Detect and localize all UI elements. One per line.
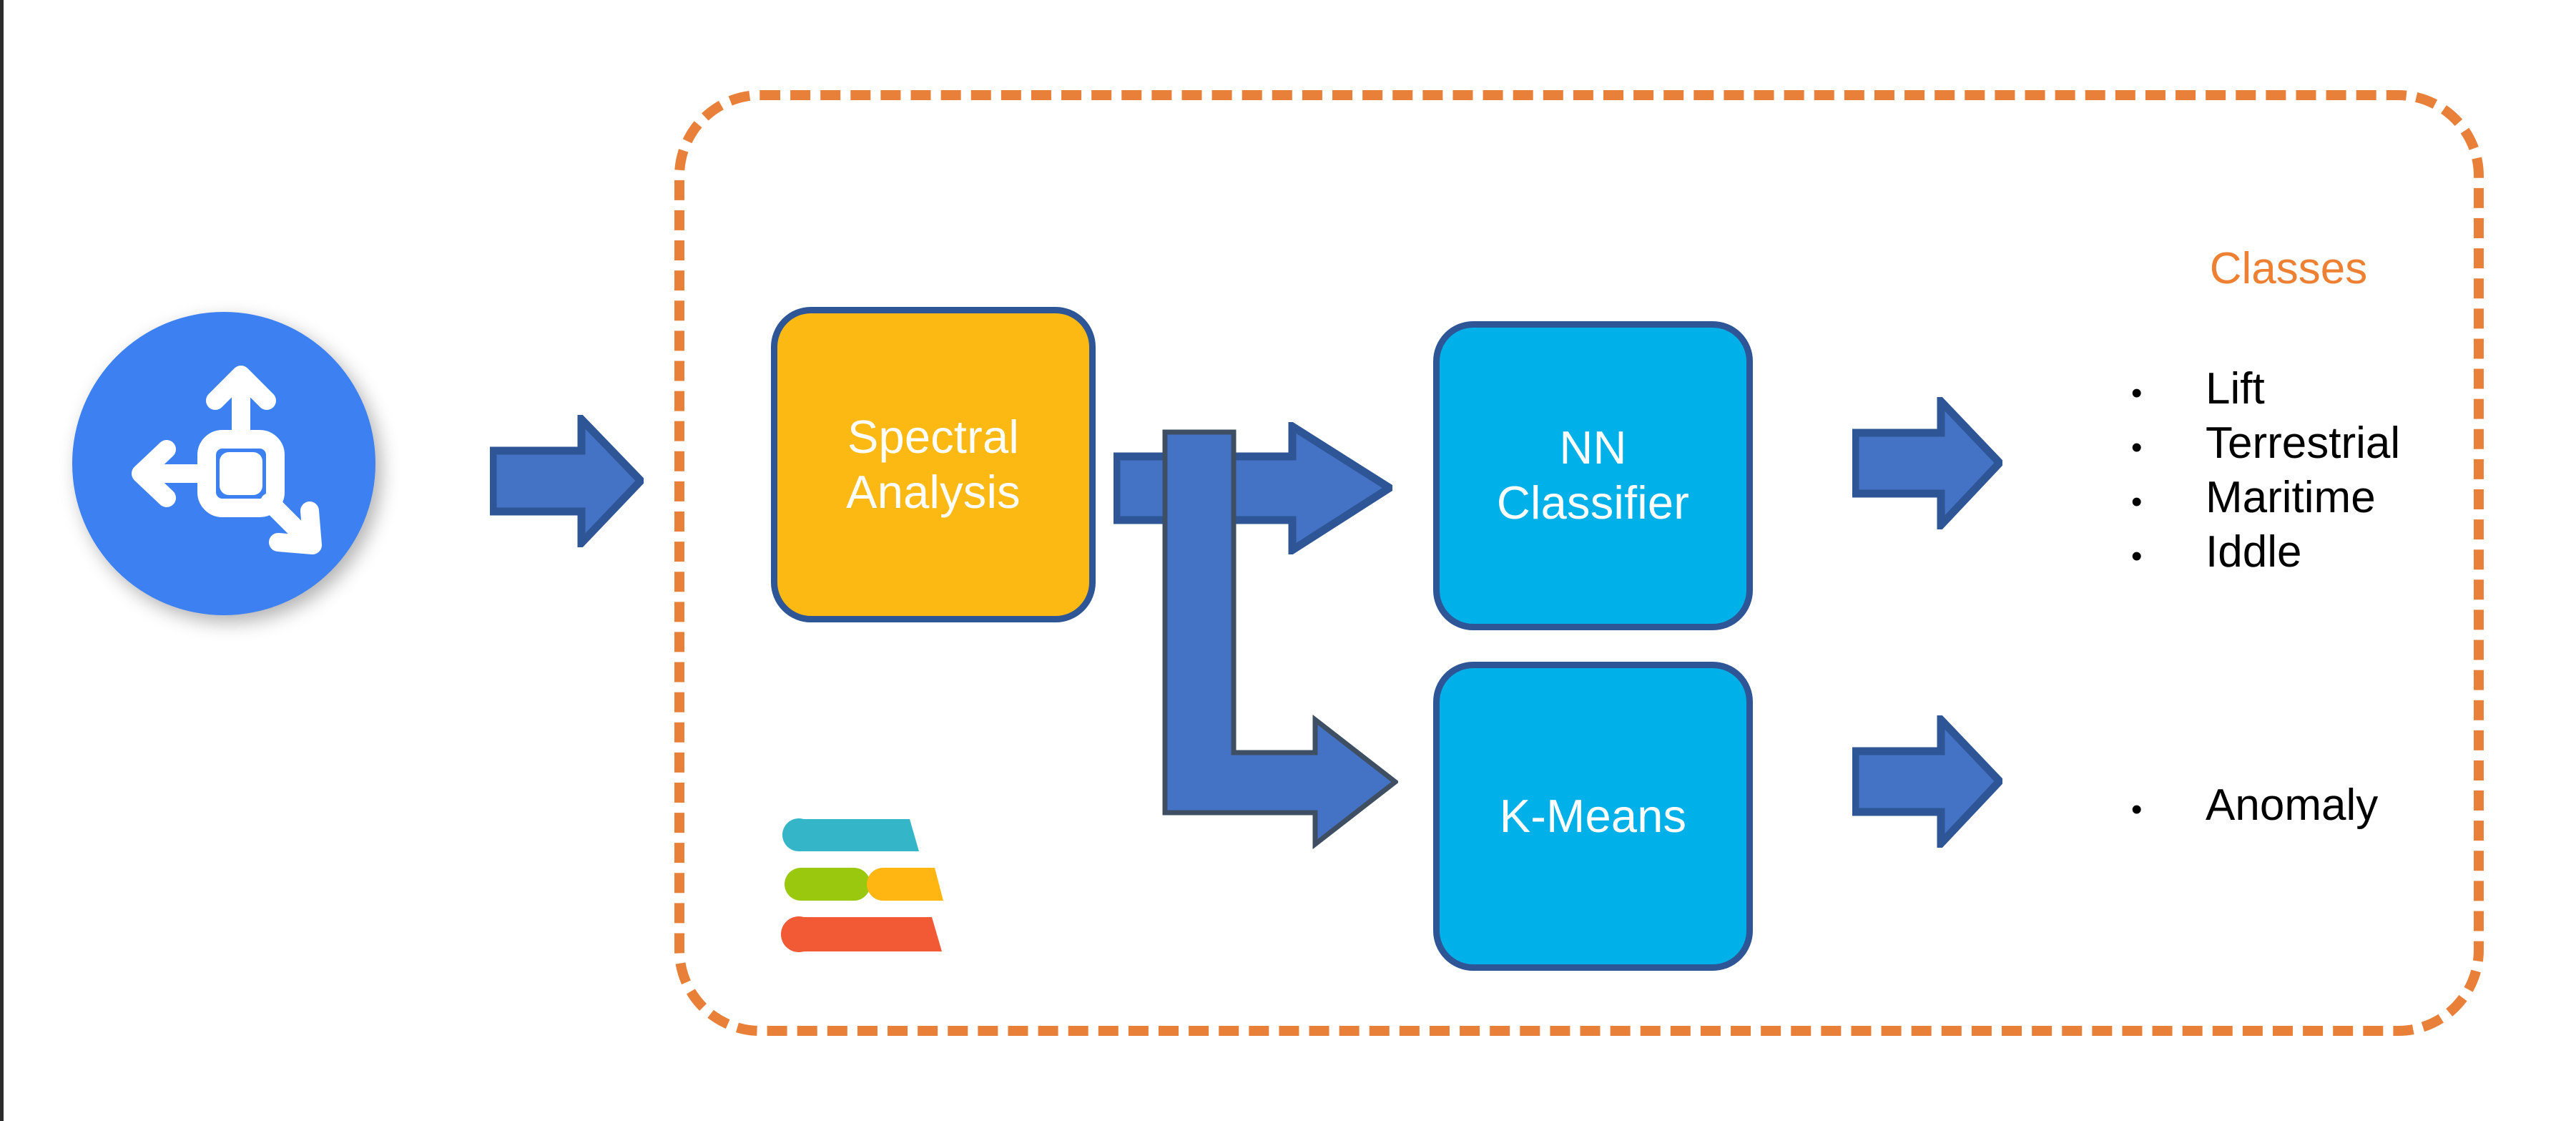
list-item: • Terrestrial [2131,418,2400,472]
bullet-icon: • [2131,486,2206,518]
node-kmeans-label: K-Means [1500,789,1687,844]
classes-title: Classes [2138,243,2439,294]
slide-canvas: Spectral Analysis NN Classifier K-Means [0,0,2576,1121]
node-nn-classifier-label: NN Classifier [1497,421,1689,530]
node-spectral-analysis[interactable]: Spectral Analysis [771,307,1096,622]
class-label: Anomaly [2206,780,2378,831]
arrow-spectral-to-kmeans [1162,429,1398,858]
bullet-icon: • [2131,378,2206,409]
label-line-1: NN [1559,421,1626,474]
class-label: Maritime [2206,472,2376,523]
label-line-2: Classifier [1497,476,1689,529]
bullet-icon: • [2131,794,2206,826]
classes-primary-list: • Lift • Terrestrial • Maritime • Iddle [2131,363,2400,581]
class-label: Iddle [2206,527,2301,577]
bullet-icon: • [2131,432,2206,464]
bullet-icon: • [2131,541,2206,572]
node-nn-classifier[interactable]: NN Classifier [1433,321,1753,630]
node-spectral-analysis-label: Spectral Analysis [846,410,1021,519]
label-line-1: Spectral [847,411,1019,463]
list-item: • Anomaly [2131,780,2378,834]
list-item: • Maritime [2131,472,2400,527]
list-item: • Iddle [2131,527,2400,581]
arrow-kmeans-to-anomaly [1852,715,2002,848]
list-item: • Lift [2131,363,2400,418]
classes-secondary-list: • Anomaly [2131,780,2378,834]
node-kmeans[interactable]: K-Means [1433,662,1753,971]
bar-chart-icon [775,816,963,959]
class-label: Terrestrial [2206,418,2400,469]
class-label: Lift [2206,363,2265,414]
arrow-input-to-spectral [490,415,644,547]
label-line-2: Analysis [846,466,1021,518]
sensor-input-node[interactable] [72,312,375,615]
arrow-nn-to-classes [1852,397,2002,529]
